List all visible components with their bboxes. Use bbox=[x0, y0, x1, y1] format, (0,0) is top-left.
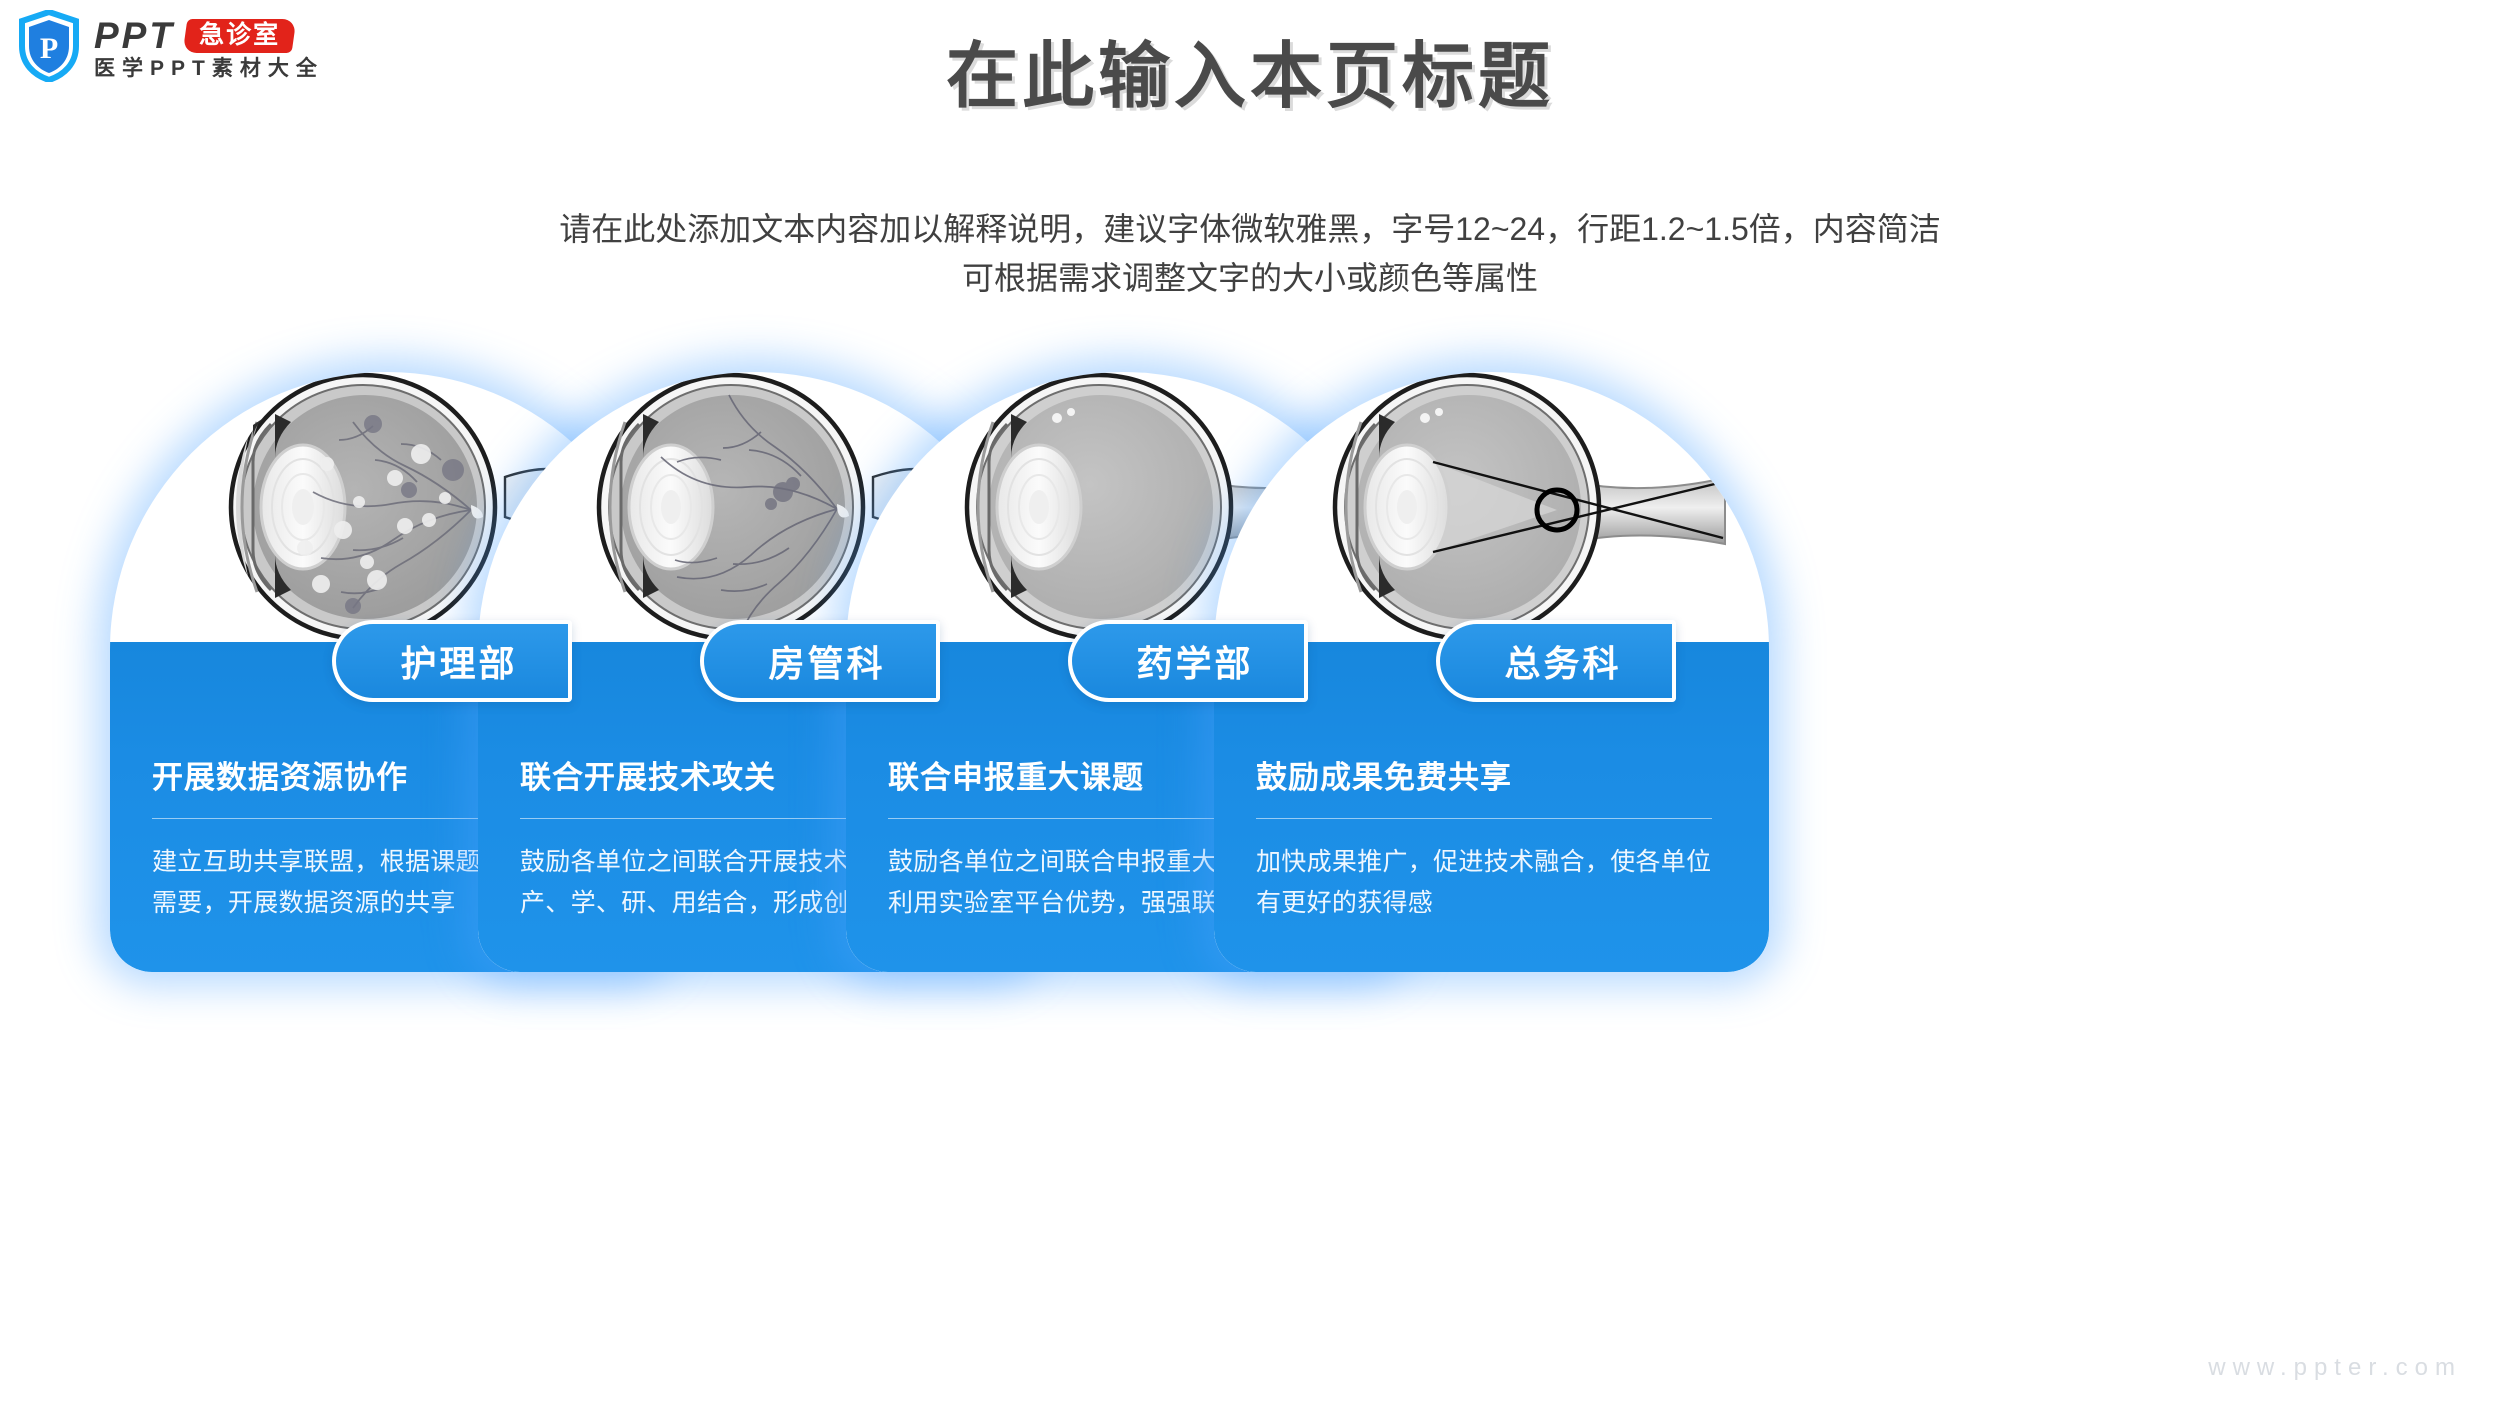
card-4-description: 加快成果推广，促进技术融合，使各单位有更好的获得感 bbox=[1256, 842, 1722, 925]
bottom-fade bbox=[0, 1336, 2500, 1406]
card-4-divider bbox=[1256, 818, 1712, 819]
card-3-badge[interactable]: 药学部 bbox=[1068, 620, 1308, 702]
card-4-badge[interactable]: 总务科 bbox=[1436, 620, 1676, 702]
card-1-badge[interactable]: 护理部 bbox=[332, 620, 572, 702]
subtitle-line-2: 可根据需求调整文字的大小或颜色等属性 bbox=[0, 254, 2500, 303]
site-watermark: www.ppter.com bbox=[2208, 1354, 2462, 1382]
card-2-badge[interactable]: 房管科 bbox=[700, 620, 940, 702]
card-4-heading: 鼓励成果免费共享 bbox=[1256, 759, 1726, 796]
page-title: 在此输入本页标题 bbox=[0, 36, 2500, 119]
subtitle-line-1: 请在此处添加文本内容加以解释说明，建议字体微软雅黑，字号12~24，行距1.2~… bbox=[0, 205, 2500, 254]
page-subtitle: 请在此处添加文本内容加以解释说明，建议字体微软雅黑，字号12~24，行距1.2~… bbox=[0, 205, 2500, 302]
eye-anatomy-optics-icon bbox=[1214, 372, 1769, 642]
card-list: 开展数据资源协作 建立互助共享联盟，根据课题和研发工作需要，开展数据资源的共享 … bbox=[0, 372, 2500, 872]
